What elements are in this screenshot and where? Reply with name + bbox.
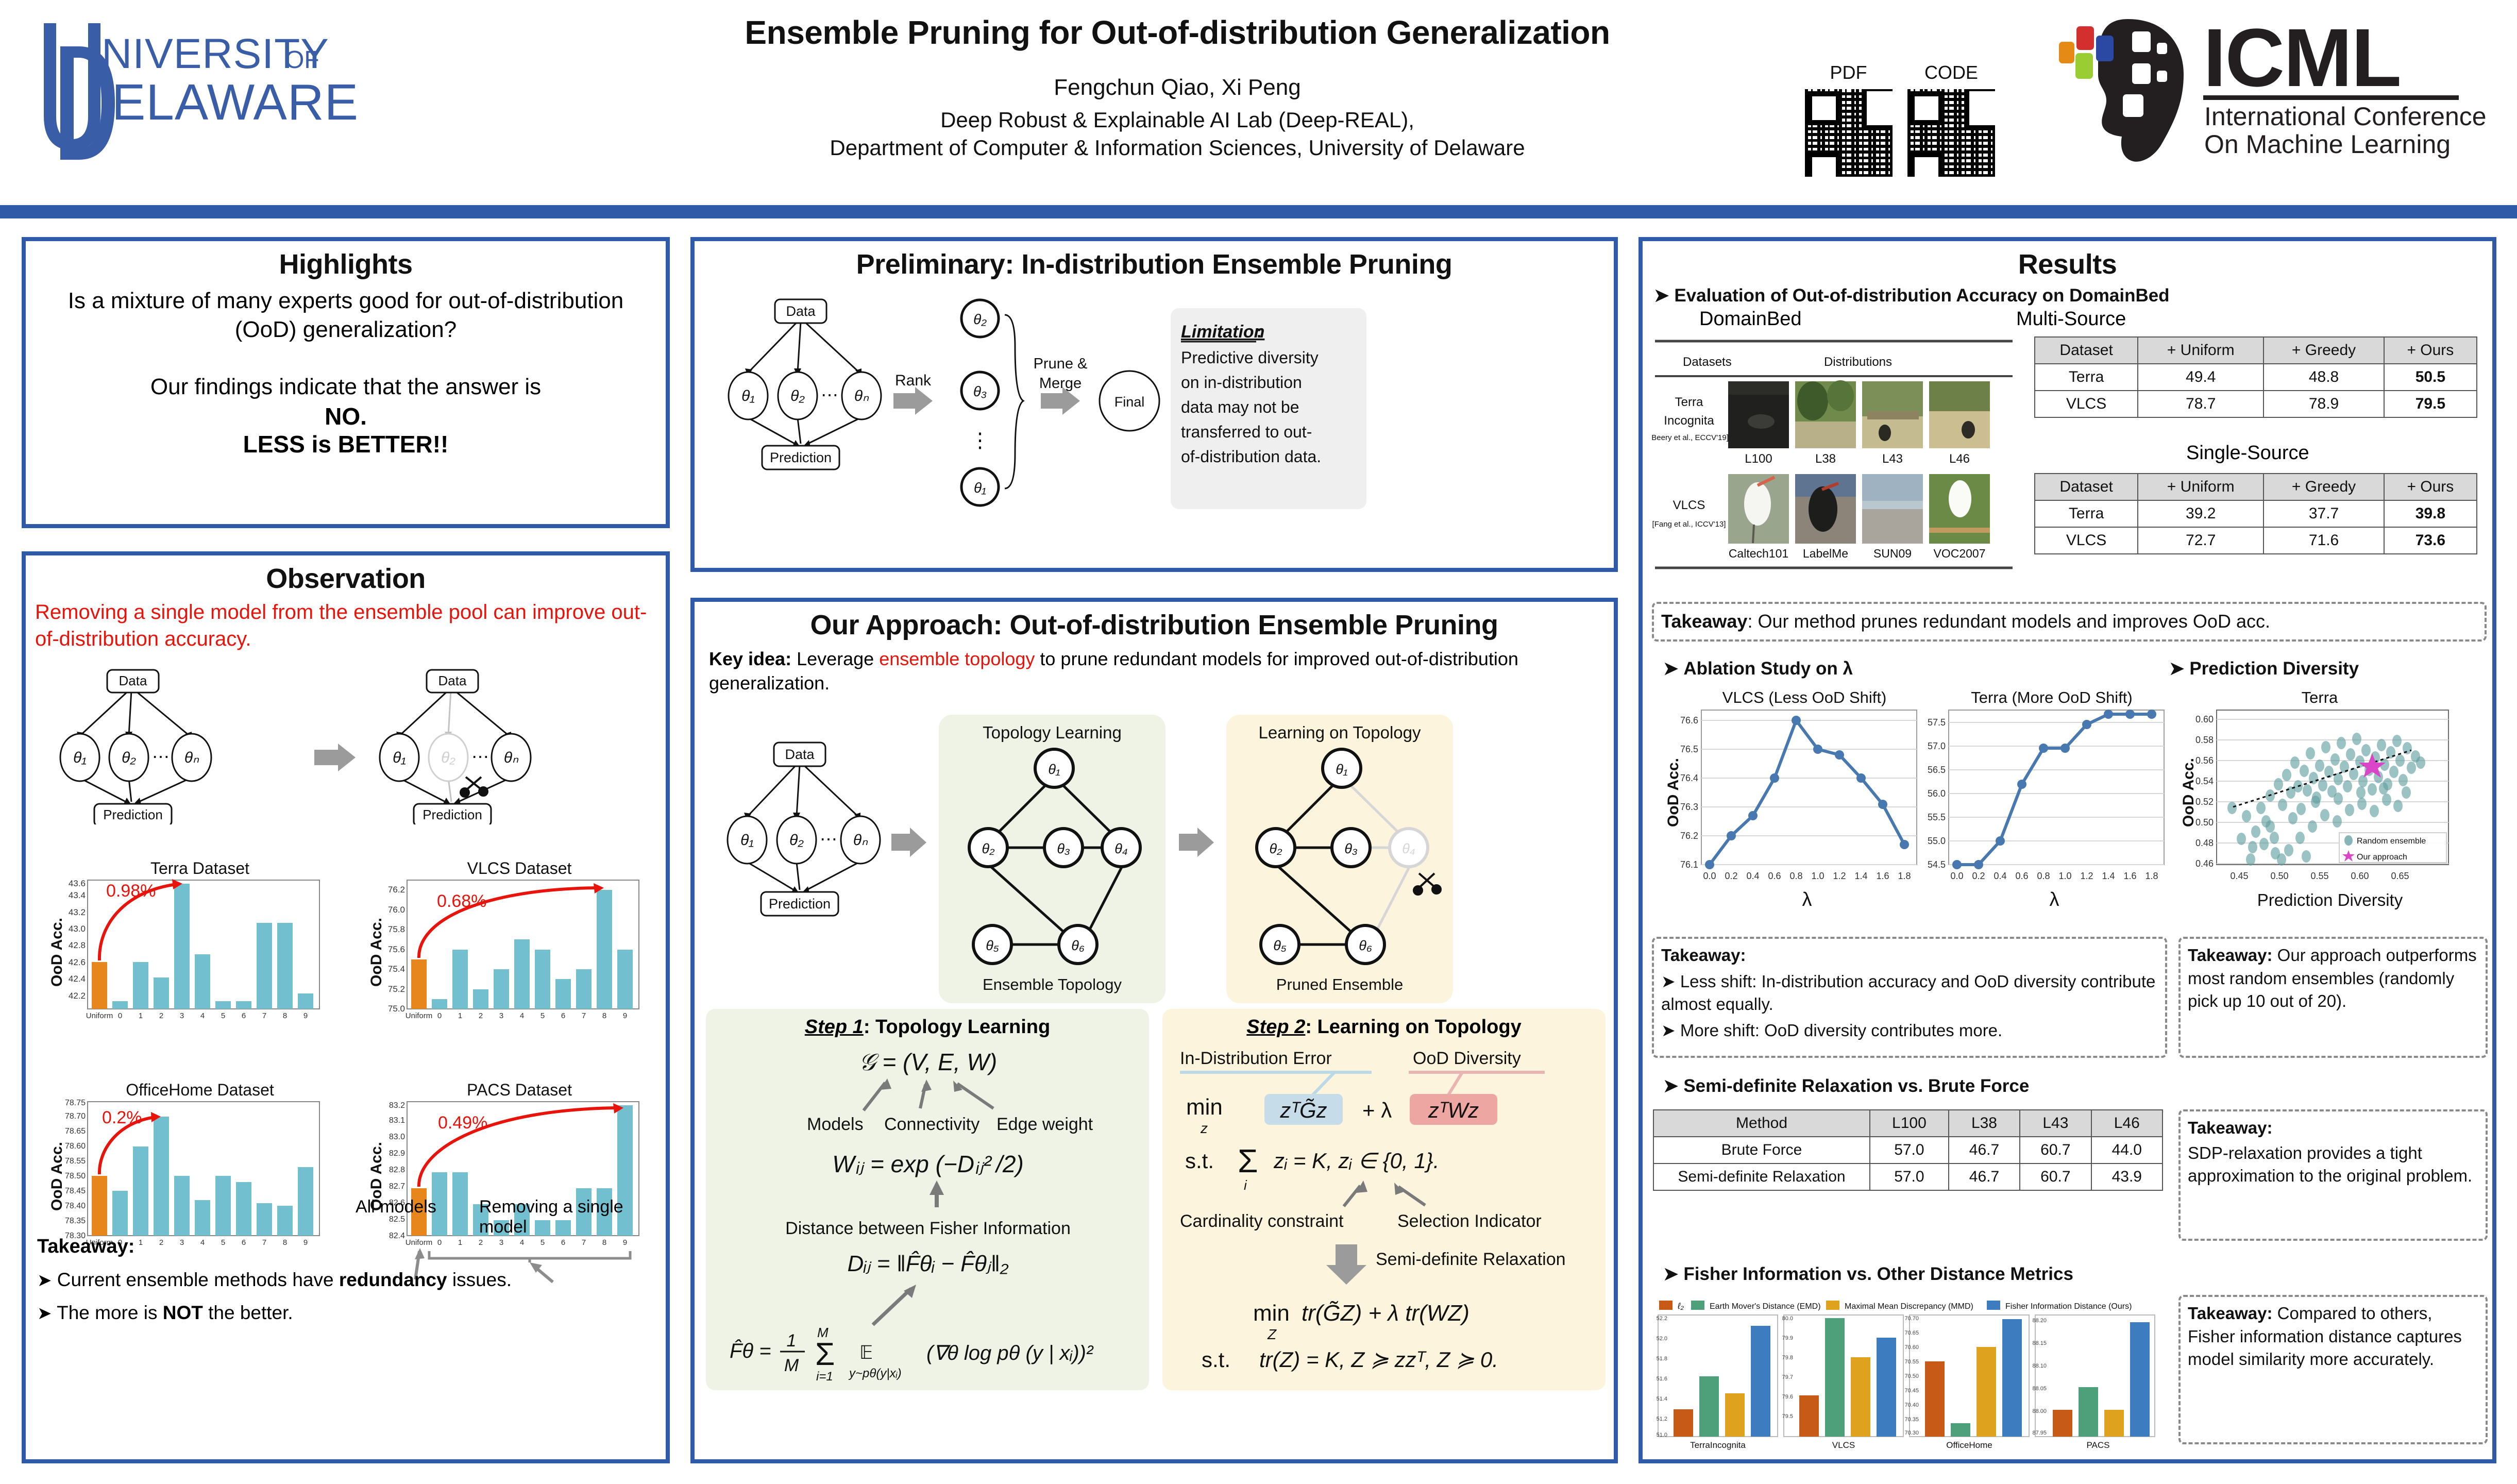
svg-text:SUN09: SUN09 xyxy=(1873,547,1912,560)
svg-text:3: 3 xyxy=(499,1011,503,1020)
svg-text:i=1: i=1 xyxy=(816,1370,833,1382)
svg-text:42.4: 42.4 xyxy=(69,974,86,984)
svg-text:75.6: 75.6 xyxy=(388,945,405,954)
svg-text:0.56: 0.56 xyxy=(2195,755,2214,766)
svg-text:θ₁: θ₁ xyxy=(740,832,754,849)
svg-text:51.6: 51.6 xyxy=(1657,1376,1667,1382)
svg-text:s.t.: s.t. xyxy=(1185,1149,1214,1173)
svg-text:78.35: 78.35 xyxy=(65,1217,86,1225)
step2-box: Step 2: Learning on Topology In-Distribu… xyxy=(1162,1009,1606,1390)
svg-text:VLCS Dataset: VLCS Dataset xyxy=(467,859,572,878)
svg-text:θ₂: θ₂ xyxy=(982,841,995,856)
svg-text:75.8: 75.8 xyxy=(388,924,405,934)
results-section-eval: ➤Evaluation of Out-of-distribution Accur… xyxy=(1654,285,2492,306)
svg-text:Data: Data xyxy=(119,673,147,688)
ss-th-2: + Greedy xyxy=(2263,474,2384,500)
svg-text:M: M xyxy=(784,1356,799,1375)
svg-text:1: 1 xyxy=(139,1011,143,1020)
svg-text:on in-distribution: on in-distribution xyxy=(1181,373,1302,392)
svg-text:Prune &: Prune & xyxy=(1034,356,1088,372)
ss-th-1: + Uniform xyxy=(2138,474,2263,500)
key-idea-prefix: Key idea: xyxy=(709,648,791,669)
svg-text:76.5: 76.5 xyxy=(1680,744,1698,754)
sdp-takeaway-text: SDP-relaxation provides a tight approxim… xyxy=(2188,1142,2478,1188)
bullet-arrow-icon: ➤ xyxy=(1663,1076,1678,1096)
svg-text:(∇θ log pθ (y | xᵢ))²: (∇θ log pθ (y | xᵢ))² xyxy=(926,1342,1094,1364)
svg-text:1.6: 1.6 xyxy=(1876,871,1889,881)
svg-text:tr(G̃Z) + λ tr(WZ): tr(G̃Z) + λ tr(WZ) xyxy=(1302,1301,1469,1326)
svg-text:83.1: 83.1 xyxy=(389,1116,405,1125)
svg-text:Terra Dataset: Terra Dataset xyxy=(150,859,249,878)
svg-text:88.10: 88.10 xyxy=(2032,1363,2047,1369)
svg-text:L43: L43 xyxy=(1882,452,1903,466)
qr-code-image[interactable] xyxy=(1906,88,1997,178)
svg-text:zᵀG̃z: zᵀG̃z xyxy=(1279,1098,1327,1122)
multi-source-table: Dataset + Uniform + Greedy + Ours Terra … xyxy=(2034,336,2477,418)
ablation-takeaway-item-1: ➤ More shift: OoD diversity contributes … xyxy=(1661,1019,2158,1042)
svg-text:data may not be: data may not be xyxy=(1181,398,1299,416)
step2-title: Step 2: Learning on Topology xyxy=(1171,1016,1597,1038)
results-section-eval-label: Evaluation of Out-of-distribution Accura… xyxy=(1674,285,2169,306)
svg-text:θ₆: θ₆ xyxy=(1071,938,1085,953)
svg-text:θₙ: θₙ xyxy=(854,387,869,404)
sdp-th-4: L46 xyxy=(2091,1110,2163,1137)
svg-text:75.2: 75.2 xyxy=(388,984,405,994)
svg-text:θₙ: θₙ xyxy=(853,832,868,849)
results-section-ablation: ➤Ablation Study on λ xyxy=(1663,659,1853,679)
svg-text:88.05: 88.05 xyxy=(2032,1386,2047,1392)
svg-text:51.8: 51.8 xyxy=(1657,1356,1667,1362)
step1-equations: 𝒢 = (V, E, W) Models Connectivity Edge w… xyxy=(714,1042,1142,1382)
svg-text:θ₂: θ₂ xyxy=(1270,841,1283,856)
svg-text:56.0: 56.0 xyxy=(1928,788,1946,799)
svg-text:Edge weight: Edge weight xyxy=(996,1115,1093,1134)
svg-text:⋯: ⋯ xyxy=(152,747,170,767)
svg-text:0.58: 0.58 xyxy=(2195,735,2214,745)
svg-text:Dᵢⱼ = ‖F̂θᵢ − F̂θⱼ‖₂: Dᵢⱼ = ‖F̂θᵢ − F̂θⱼ‖₂ xyxy=(847,1251,1008,1276)
table-row: Terra 39.2 37.7 39.8 xyxy=(2035,500,2477,527)
svg-text:min: min xyxy=(1253,1301,1290,1326)
qr-pdf-label: PDF xyxy=(1798,62,1899,83)
svg-text:W ᵢⱼ = exp (−D ᵢⱼ² /2): W ᵢⱼ = exp (−D ᵢⱼ² /2) xyxy=(832,1151,1024,1177)
svg-text:VLCS (Less OoD Shift): VLCS (Less OoD Shift) xyxy=(1722,689,1887,706)
svg-text:76.1: 76.1 xyxy=(1680,859,1698,870)
poster-header: NIVERSITY OF ELAWARE Ensemble Pruning fo… xyxy=(0,0,2517,219)
svg-text:VLCS: VLCS xyxy=(1832,1440,1855,1450)
svg-text:0.54: 0.54 xyxy=(2195,776,2214,786)
svg-text:70.65: 70.65 xyxy=(1904,1330,1919,1336)
svg-text:Prediction: Prediction xyxy=(423,807,482,822)
bullet-arrow-icon: ➤ xyxy=(2169,659,2184,679)
svg-text:θ₁: θ₁ xyxy=(1336,762,1347,777)
svg-text:5: 5 xyxy=(540,1011,545,1020)
svg-text:transferred to out-: transferred to out- xyxy=(1181,423,1312,441)
sdp-r0-c1: 57.0 xyxy=(1870,1137,1949,1163)
svg-text:0.60: 0.60 xyxy=(2195,714,2214,724)
svg-text:9: 9 xyxy=(303,1011,308,1020)
table-header-row: Dataset + Uniform + Greedy + Ours xyxy=(2035,474,2477,500)
svg-text:Merge: Merge xyxy=(1039,375,1082,392)
step2-equations: In-Distribution Error OoD Diversity min … xyxy=(1171,1042,1598,1382)
table-row: VLCS 78.7 78.9 79.5 xyxy=(2035,391,2477,417)
svg-text:79.5: 79.5 xyxy=(1782,1413,1793,1420)
header-divider xyxy=(0,205,2517,218)
sdp-takeaway: Takeaway: SDP-relaxation provides a tigh… xyxy=(2178,1109,2488,1241)
svg-text:2: 2 xyxy=(479,1011,483,1020)
svg-text:0.52: 0.52 xyxy=(2195,797,2214,807)
ss-th-0: Dataset xyxy=(2035,474,2138,500)
svg-text::: : xyxy=(1256,322,1262,342)
preliminary-diagram: Data θ₁ θ₂ ⋯ θₙ Prediction Rank θ₂ θ₃ ⋮ … xyxy=(707,290,1387,537)
svg-text:𝔼: 𝔼 xyxy=(859,1342,873,1363)
svg-text:52.0: 52.0 xyxy=(1657,1336,1667,1342)
svg-text:1.6: 1.6 xyxy=(2123,871,2136,881)
svg-text:1.2: 1.2 xyxy=(2080,871,2093,881)
svg-text:0.0: 0.0 xyxy=(1950,871,1963,881)
svg-text:43.6: 43.6 xyxy=(69,879,86,888)
affiliation-line-1: Deep Robust & Explainable AI Lab (Deep-R… xyxy=(577,108,1778,132)
svg-text:θ₄: θ₄ xyxy=(1402,841,1415,856)
svg-text:θ₂: θ₂ xyxy=(789,832,804,849)
svg-text:4: 4 xyxy=(520,1011,524,1020)
svg-text:0.4: 0.4 xyxy=(1994,871,2006,881)
svg-text:L100: L100 xyxy=(1745,452,1772,466)
approach-key-idea: Key idea: Leverage ensemble topology to … xyxy=(709,647,1599,696)
svg-text:1: 1 xyxy=(787,1331,797,1351)
qr-code-code[interactable]: CODE xyxy=(1901,62,2001,178)
svg-text:70.40: 70.40 xyxy=(1904,1402,1919,1408)
ms-r0-c3: 50.5 xyxy=(2384,364,2477,391)
svg-text:min: min xyxy=(1186,1094,1223,1120)
svg-text:Prediction: Prediction xyxy=(769,896,831,912)
bullet-arrow-icon: ➤ xyxy=(1654,285,1669,306)
svg-text:78.50: 78.50 xyxy=(65,1172,86,1181)
svg-text:78.55: 78.55 xyxy=(65,1157,86,1166)
svg-text:79.6: 79.6 xyxy=(1782,1394,1793,1400)
ss-r1-c3: 73.6 xyxy=(2384,527,2477,554)
highlights-answer-lead: Our findings indicate that the answer is xyxy=(43,373,648,401)
svg-text:55.5: 55.5 xyxy=(1928,812,1946,822)
qr-code-block: PDF CODE xyxy=(1798,62,2015,178)
bullet-arrow-icon: ➤ xyxy=(1663,1264,1678,1284)
svg-text:0.2: 0.2 xyxy=(1725,871,1737,881)
svg-text:Terra: Terra xyxy=(1675,395,1703,409)
poster-root: NIVERSITY OF ELAWARE Ensemble Pruning fo… xyxy=(0,0,2517,1484)
svg-text:θ₃: θ₃ xyxy=(1057,841,1070,856)
university-logo: NIVERSITY OF ELAWARE xyxy=(23,10,363,165)
domainbed-table: Datasets Distributions Terra Incognita [… xyxy=(1652,339,2018,594)
highlights-title: Highlights xyxy=(26,248,666,280)
step2-title-em: Step 2 xyxy=(1246,1016,1305,1038)
svg-text:42.8: 42.8 xyxy=(69,940,86,950)
svg-text:Rank: Rank xyxy=(895,372,932,389)
svg-text:Topology Learning: Topology Learning xyxy=(983,723,1122,742)
svg-text:Fisher Information Distance (O: Fisher Information Distance (Ours) xyxy=(2005,1302,2132,1311)
ablation-takeaway-title: Takeaway: xyxy=(1661,944,2158,967)
svg-text:42.6: 42.6 xyxy=(69,957,86,967)
sdp-r0-c2: 46.7 xyxy=(1949,1137,2020,1163)
svg-text:70.55: 70.55 xyxy=(1904,1359,1919,1365)
svg-text:Final: Final xyxy=(1114,394,1145,410)
svg-text:78.75: 78.75 xyxy=(65,1099,86,1107)
col-datasets: Datasets xyxy=(1683,355,1732,369)
svg-text:1.8: 1.8 xyxy=(2145,871,2158,881)
svg-text:θ₄: θ₄ xyxy=(1114,841,1127,856)
svg-text:0.55: 0.55 xyxy=(2310,871,2328,881)
svg-text:θ₂: θ₂ xyxy=(441,749,455,766)
caption-all-models: All models xyxy=(356,1197,436,1217)
panel-results: Results ➤Evaluation of Out-of-distributi… xyxy=(1638,237,2496,1463)
observation-statement: Removing a single model from the ensembl… xyxy=(35,599,656,652)
svg-text:Incognita: Incognita xyxy=(1664,414,1714,428)
key-idea-part1: Leverage xyxy=(791,648,879,669)
svg-text:⋯: ⋯ xyxy=(821,385,838,405)
svg-text:Semi-definite Relaxation: Semi-definite Relaxation xyxy=(1376,1250,1566,1269)
ss-r0-c1: 39.2 xyxy=(2138,500,2263,527)
svg-text:83.0: 83.0 xyxy=(389,1133,405,1141)
table-row: Terra 49.4 48.8 50.5 xyxy=(2035,364,2477,391)
svg-text:80.0: 80.0 xyxy=(1782,1316,1793,1322)
svg-text:70.60: 70.60 xyxy=(1904,1344,1919,1351)
singlesource-caption: Single-Source xyxy=(2186,442,2309,464)
single-source-table: Dataset + Uniform + Greedy + Ours Terra … xyxy=(2034,473,2477,554)
svg-text:0.50: 0.50 xyxy=(2270,871,2288,881)
svg-text:OoD Diversity: OoD Diversity xyxy=(1413,1049,1521,1068)
multisource-caption: Multi-Source xyxy=(2016,308,2126,330)
svg-text:OF: OF xyxy=(285,46,319,74)
title-block: Ensemble Pruning for Out-of-distribution… xyxy=(577,15,1778,160)
sdp-r0-c0: Brute Force xyxy=(1653,1137,1870,1163)
caption-removing-single: Removing a single model xyxy=(479,1197,666,1237)
ms-th-1: + Uniform xyxy=(2138,337,2263,364)
svg-text:Terra (More OoD Shift): Terra (More OoD Shift) xyxy=(1971,689,2133,706)
sdp-th-1: L100 xyxy=(1870,1110,1949,1137)
highlights-question: Is a mixture of many experts good for ou… xyxy=(43,286,648,345)
highlights-answer-less: LESS is BETTER!! xyxy=(26,430,666,458)
ms-r0-c0: Terra xyxy=(2035,364,2138,391)
svg-text:79.9: 79.9 xyxy=(1782,1335,1793,1341)
svg-text:Random ensemble: Random ensemble xyxy=(2357,837,2426,846)
svg-text:82.7: 82.7 xyxy=(389,1182,405,1191)
svg-text:OfficeHome Dataset: OfficeHome Dataset xyxy=(126,1081,274,1099)
svg-text:θ₁: θ₁ xyxy=(1048,762,1060,777)
svg-text:θ₂: θ₂ xyxy=(790,387,805,404)
svg-text:57.0: 57.0 xyxy=(1928,741,1946,751)
sdp-r0-c3: 60.7 xyxy=(2020,1137,2091,1163)
svg-text:78.60: 78.60 xyxy=(65,1142,86,1151)
svg-text:VLCS: VLCS xyxy=(1673,498,1705,512)
svg-text:76.3: 76.3 xyxy=(1680,802,1698,812)
svg-text:6: 6 xyxy=(242,1011,246,1020)
svg-text:Prediction: Prediction xyxy=(770,450,832,465)
svg-text:0.8: 0.8 xyxy=(2037,871,2050,881)
svg-text:ICML: ICML xyxy=(2203,13,2401,104)
svg-text:70.35: 70.35 xyxy=(1904,1416,1919,1423)
ss-r1-c0: VLCS xyxy=(2035,527,2138,554)
svg-text:6: 6 xyxy=(561,1011,565,1020)
svg-text:0.98%: 0.98% xyxy=(106,881,156,901)
svg-text:88.00: 88.00 xyxy=(2032,1408,2047,1414)
observation-title: Observation xyxy=(26,563,666,595)
svg-text:Limitation: Limitation xyxy=(1181,322,1264,342)
svg-text:i: i xyxy=(1244,1177,1247,1193)
table-row: Semi-definite Relaxation 57.0 46.7 60.7 … xyxy=(1653,1163,2163,1190)
svg-text:of-distribution data.: of-distribution data. xyxy=(1181,447,1321,466)
svg-text:0.6: 0.6 xyxy=(1768,871,1781,881)
svg-text:L38: L38 xyxy=(1815,452,1836,466)
sdp-r0-c4: 44.0 xyxy=(2091,1137,2163,1163)
ms-r0-c2: 48.8 xyxy=(2263,364,2384,391)
svg-text:76.2: 76.2 xyxy=(388,885,405,895)
sdp-th-0: Method xyxy=(1653,1110,1870,1137)
svg-text:0.60: 0.60 xyxy=(2351,871,2369,881)
svg-text:0.2%: 0.2% xyxy=(102,1108,142,1127)
svg-text:[Fang et al., ICCV'13]: [Fang et al., ICCV'13] xyxy=(1652,520,1726,529)
svg-text:F̂θ =: F̂θ = xyxy=(730,1339,771,1362)
ss-r0-c3: 39.8 xyxy=(2384,500,2477,527)
svg-text:56.5: 56.5 xyxy=(1928,765,1946,775)
svg-text:PACS Dataset: PACS Dataset xyxy=(467,1081,572,1099)
svg-text:78.70: 78.70 xyxy=(65,1112,86,1121)
observation-takeaway-item-0: ➤ Current ensemble methods have redundan… xyxy=(37,1269,661,1291)
results-takeaway-main-bold: Takeaway xyxy=(1661,611,1747,632)
svg-text:88.15: 88.15 xyxy=(2032,1340,2047,1346)
svg-text:0.46: 0.46 xyxy=(2195,858,2214,869)
ms-r1-c1: 78.7 xyxy=(2138,391,2263,417)
domainbed-caption: DomainBed xyxy=(1699,308,1802,330)
svg-text:Σ: Σ xyxy=(815,1337,835,1372)
svg-text:⋮: ⋮ xyxy=(970,429,990,452)
step1-title-em: Step 1 xyxy=(805,1016,864,1038)
svg-text:0.65: 0.65 xyxy=(2391,871,2409,881)
svg-text:⋯: ⋯ xyxy=(471,747,489,767)
icml-logo: ICML International Conference On Machine… xyxy=(2051,13,2494,167)
svg-text:θ₁: θ₁ xyxy=(974,480,986,496)
svg-text:λ: λ xyxy=(1802,889,1812,910)
ablation-takeaway-item-1-label: More shift: OoD diversity contributes mo… xyxy=(1680,1021,2002,1040)
svg-text:0.50: 0.50 xyxy=(2195,817,2214,828)
svg-text:Our approach: Our approach xyxy=(2357,853,2407,862)
col-distributions: Distributions xyxy=(1824,355,1892,369)
sdp-table: Method L100 L38 L43 L46 Brute Force 57.0… xyxy=(1653,1109,2163,1191)
svg-text:Earth Mover's Distance (EMD): Earth Mover's Distance (EMD) xyxy=(1710,1302,1821,1311)
svg-text:θ₂: θ₂ xyxy=(973,311,987,327)
table-header-row: Dataset + Uniform + Greedy + Ours xyxy=(2035,337,2477,364)
ms-th-3: + Ours xyxy=(2384,337,2477,364)
qr-pdf[interactable]: PDF xyxy=(1798,62,1899,178)
svg-text:tr(Z) = K, Z ≽ zzᵀ, Z ≽ 0.: tr(Z) = K, Z ≽ zzᵀ, Z ≽ 0. xyxy=(1259,1347,1498,1372)
ablation-takeaway-item-0: ➤ Less shift: In-distribution accuracy a… xyxy=(1661,970,2158,1016)
svg-text:OoD Acc.: OoD Acc. xyxy=(48,1142,65,1211)
sdp-r1-c4: 43.9 xyxy=(2091,1163,2163,1190)
svg-text:0.6: 0.6 xyxy=(2015,871,2028,881)
svg-text:OfficeHome: OfficeHome xyxy=(1946,1440,1992,1450)
svg-text:Data: Data xyxy=(438,673,467,688)
fisher-distance-chart: ℓ₂ Earth Mover's Distance (EMD) Maximal … xyxy=(1654,1297,2169,1462)
svg-text:On Machine Learning: On Machine Learning xyxy=(2204,130,2451,159)
svg-text:θ₃: θ₃ xyxy=(1344,841,1358,856)
svg-text:4: 4 xyxy=(200,1011,205,1020)
svg-text:Selection Indicator: Selection Indicator xyxy=(1397,1211,1542,1231)
svg-text:Prediction: Prediction xyxy=(103,807,163,822)
observation-takeaway: Takeaway: ➤ Current ensemble methods hav… xyxy=(37,1236,661,1324)
svg-text:7: 7 xyxy=(262,1011,266,1020)
svg-text:Models: Models xyxy=(807,1115,864,1134)
svg-text:θ₆: θ₆ xyxy=(1359,938,1372,953)
svg-text:1.4: 1.4 xyxy=(1854,871,1867,881)
sdp-r1-c3: 60.7 xyxy=(2020,1163,2091,1190)
svg-text:y~pθ(y|xᵢ): y~pθ(y|xᵢ) xyxy=(848,1367,902,1380)
svg-text:51.0: 51.0 xyxy=(1657,1432,1667,1438)
svg-text:+ λ: + λ xyxy=(1362,1098,1392,1122)
svg-text:43.2: 43.2 xyxy=(69,907,86,917)
svg-text:Predictive diversity: Predictive diversity xyxy=(1181,348,1319,367)
results-section-sdp-label: Semi-definite Relaxation vs. Brute Force xyxy=(1683,1076,2029,1096)
qr-pdf-code[interactable] xyxy=(1803,88,1894,178)
svg-text:79.8: 79.8 xyxy=(1782,1355,1793,1361)
svg-text:79.7: 79.7 xyxy=(1782,1374,1793,1380)
svg-text:TerraIncognita: TerraIncognita xyxy=(1690,1440,1746,1450)
svg-text:PACS: PACS xyxy=(2086,1440,2109,1450)
svg-text:42.2: 42.2 xyxy=(69,991,86,1001)
ss-r0-c0: Terra xyxy=(2035,500,2138,527)
ms-r0-c1: 49.4 xyxy=(2138,364,2263,391)
svg-text:76.6: 76.6 xyxy=(1680,715,1698,726)
svg-text:ℓ₂: ℓ₂ xyxy=(1677,1301,1684,1311)
svg-text:zᵢ = K, zᵢ ∈ {0, 1}.: zᵢ = K, zᵢ ∈ {0, 1}. xyxy=(1273,1149,1439,1173)
svg-text:87.95: 87.95 xyxy=(2032,1430,2047,1436)
svg-text:⋯: ⋯ xyxy=(820,830,837,849)
svg-text:0.0: 0.0 xyxy=(1703,871,1716,881)
diversity-takeaway: Takeaway: Our approach outperforms most … xyxy=(2178,937,2488,1058)
svg-text:Prediction Diversity: Prediction Diversity xyxy=(2257,890,2403,909)
svg-text:0.8: 0.8 xyxy=(1789,871,1802,881)
approach-diagram: Data θ₁ θ₂ ⋯ θₙ Prediction Topology Lear… xyxy=(706,707,1602,1011)
results-section-fisher-label: Fisher Information vs. Other Distance Me… xyxy=(1683,1264,2073,1284)
svg-text:θ₅: θ₅ xyxy=(1273,938,1287,953)
svg-text:s.t.: s.t. xyxy=(1202,1347,1230,1372)
svg-text:70.30: 70.30 xyxy=(1904,1430,1919,1436)
ss-r1-c2: 71.6 xyxy=(2263,527,2384,554)
svg-text:0.48: 0.48 xyxy=(2195,838,2214,848)
svg-text:OoD Acc.: OoD Acc. xyxy=(368,918,385,987)
svg-text:52.2: 52.2 xyxy=(1657,1316,1667,1322)
svg-text:1.0: 1.0 xyxy=(1811,871,1824,881)
svg-text:75.0: 75.0 xyxy=(388,1004,405,1014)
svg-text:51.2: 51.2 xyxy=(1657,1416,1667,1422)
svg-text:Σ: Σ xyxy=(1238,1142,1258,1179)
svg-text:Terra: Terra xyxy=(2302,689,2338,706)
step2-title-rest: : Learning on Topology xyxy=(1305,1016,1521,1038)
svg-text:θₙ: θₙ xyxy=(184,749,199,766)
svg-text:1.8: 1.8 xyxy=(1898,871,1911,881)
svg-text:0.4: 0.4 xyxy=(1746,871,1759,881)
svg-text:1.2: 1.2 xyxy=(1833,871,1846,881)
ms-r1-c0: VLCS xyxy=(2035,391,2138,417)
svg-text:76.2: 76.2 xyxy=(1680,831,1698,841)
svg-text:Distance between Fisher Inform: Distance between Fisher Information xyxy=(785,1219,1071,1238)
svg-text:zᵀWz: zᵀWz xyxy=(1428,1098,1479,1122)
sdp-r1-c2: 46.7 xyxy=(1949,1163,2020,1190)
sdp-th-3: L43 xyxy=(2020,1110,2091,1137)
panel-highlights: Highlights Is a mixture of many experts … xyxy=(22,237,670,528)
panel-preliminary: Preliminary: In-distribution Ensemble Pr… xyxy=(690,237,1618,572)
results-section-ablation-label: Ablation Study on λ xyxy=(1683,659,1853,679)
scissors-icon xyxy=(461,777,487,797)
ss-r0-c2: 37.7 xyxy=(2263,500,2384,527)
results-takeaway-main: Takeaway: Our method prunes redundant mo… xyxy=(1652,602,2487,642)
step1-box: Step 1: Topology Learning 𝒢 = (V, E, W) … xyxy=(706,1009,1149,1390)
